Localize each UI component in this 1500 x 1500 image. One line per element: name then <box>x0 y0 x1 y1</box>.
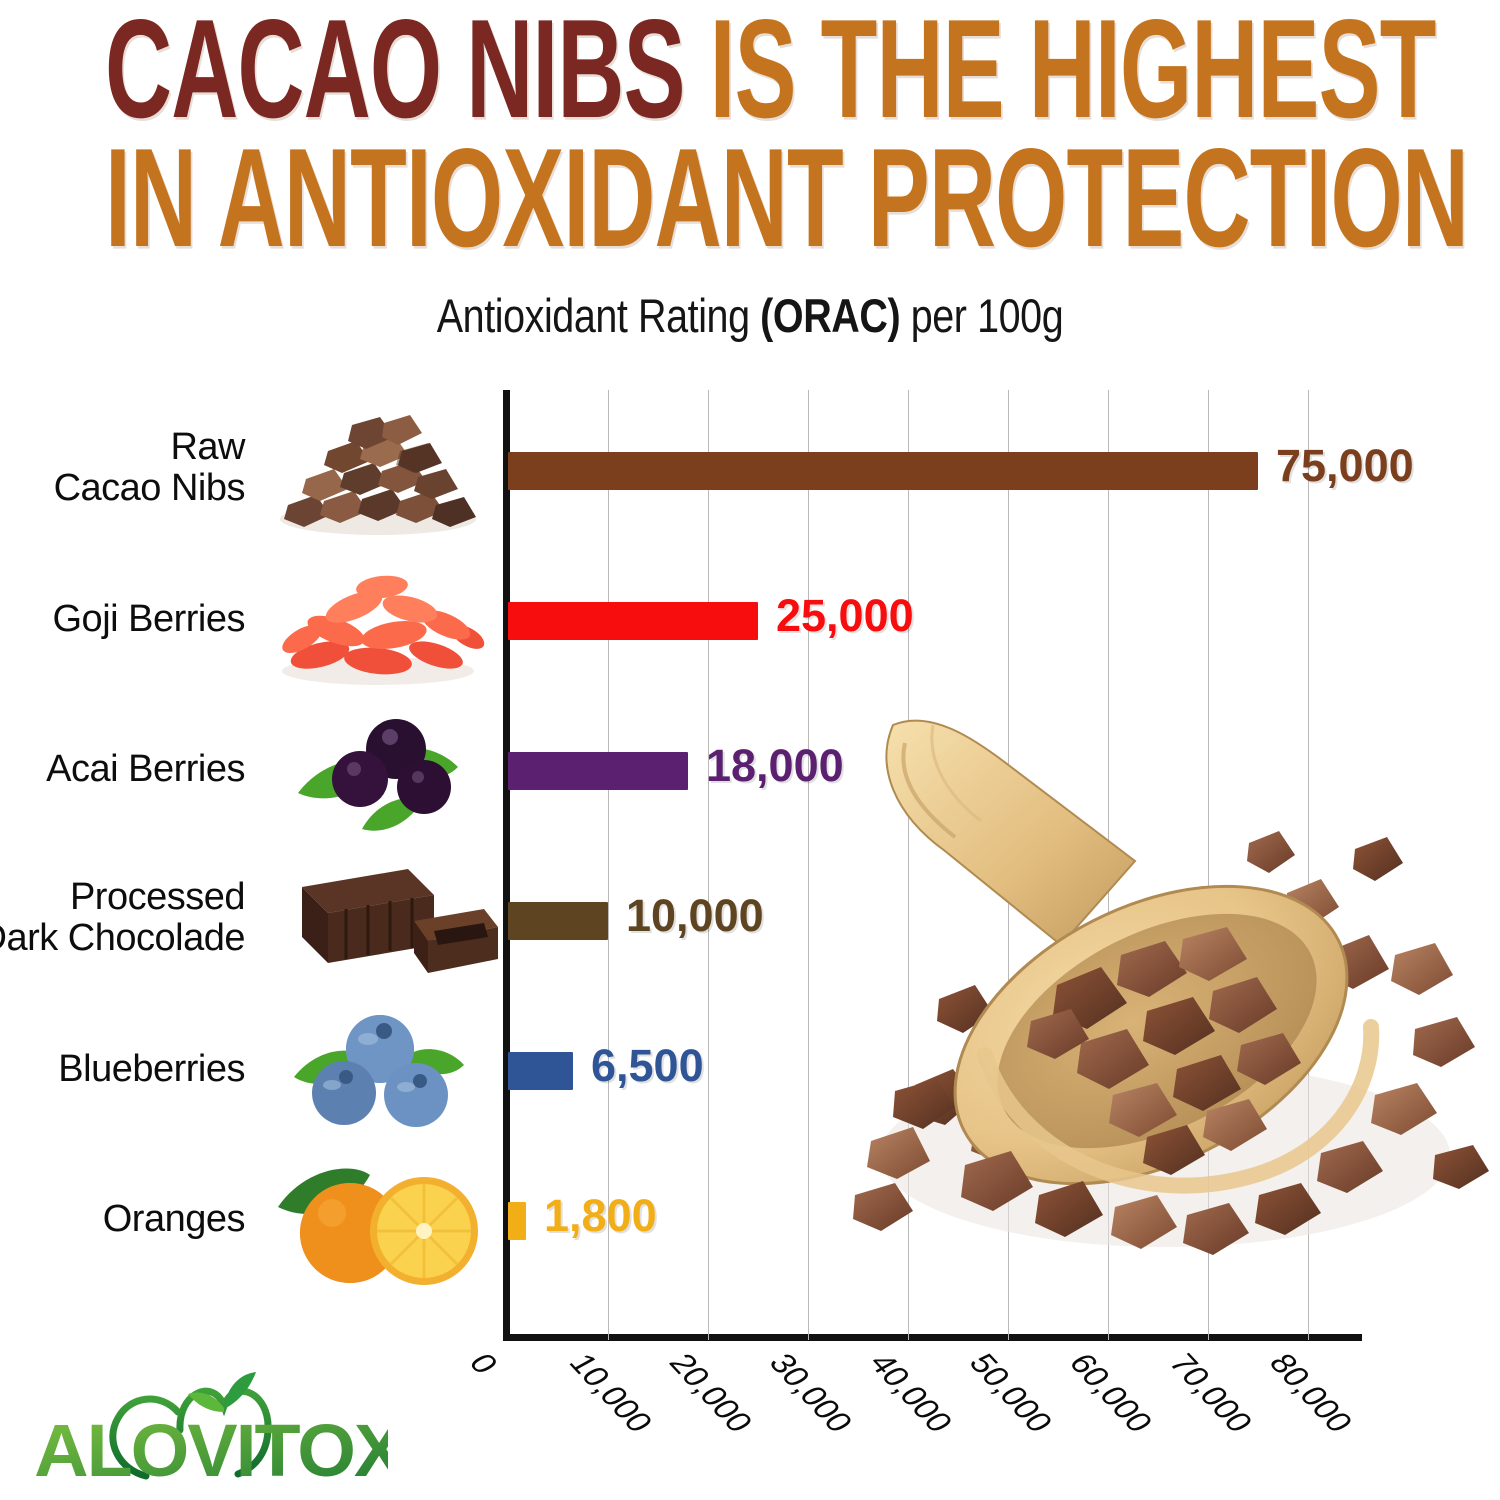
bar <box>508 602 758 640</box>
bar <box>508 752 688 790</box>
category-label: RawCacao Nibs <box>0 427 245 509</box>
goji-berries-image <box>258 551 498 691</box>
x-tick-label: 20,000 <box>661 1348 761 1438</box>
bar-value-label: 25,000 <box>776 590 914 642</box>
x-tick-label: 50,000 <box>961 1348 1061 1438</box>
category-label-line: Oranges <box>0 1199 245 1240</box>
category-label-line: Dark Chocolade <box>0 918 245 959</box>
x-tick-label: 60,000 <box>1061 1348 1161 1438</box>
category-label: Acai Berries <box>0 749 245 790</box>
bar-value-label: 1,800 <box>544 1190 657 1242</box>
bar <box>508 452 1258 490</box>
bar-value-label: 18,000 <box>706 740 844 792</box>
x-tick-label: 10,000 <box>561 1348 661 1438</box>
category-label-line: Blueberries <box>0 1049 245 1090</box>
category-label-line: Cacao Nibs <box>0 468 245 509</box>
blueberries-image <box>258 1001 498 1141</box>
category-label: ProcessedDark Chocolade <box>0 877 245 959</box>
x-tick-label: 40,000 <box>861 1348 961 1438</box>
category-label: Goji Berries <box>0 599 245 640</box>
bar-value-label: 6,500 <box>591 1040 704 1092</box>
x-tick-label: 70,000 <box>1161 1348 1261 1438</box>
acai-berries-image <box>258 701 498 841</box>
category-label: Oranges <box>0 1199 245 1240</box>
x-tick-label: 80,000 <box>1261 1348 1361 1438</box>
bar-value-label: 75,000 <box>1276 440 1414 492</box>
dark-chocolate-image <box>258 851 498 991</box>
bar <box>508 902 608 940</box>
bar <box>508 1052 573 1090</box>
oranges-image <box>258 1151 498 1291</box>
bar <box>508 1202 526 1240</box>
category-label: Blueberries <box>0 1049 245 1090</box>
infographic-page: CACAO NIBS IS THE HIGHEST IN ANTIOXIDANT… <box>0 0 1500 1500</box>
cacao-nibs-pile-image <box>258 401 498 541</box>
bar-row: RawCacao Nibs 75,000 <box>0 396 1500 546</box>
x-tick-label: 0 <box>461 1348 506 1380</box>
alovitox-logo: ALOVITOX <box>28 1372 388 1490</box>
category-label-line: Goji Berries <box>0 599 245 640</box>
svg-text:ALOVITOX: ALOVITOX <box>34 1409 388 1490</box>
cacao-nibs-wooden-scoop-photo <box>835 655 1495 1275</box>
x-tick-label: 30,000 <box>761 1348 861 1438</box>
category-label-line: Processed <box>0 877 245 918</box>
category-label-line: Raw <box>0 427 245 468</box>
bar-value-label: 10,000 <box>626 890 764 942</box>
category-label-line: Acai Berries <box>0 749 245 790</box>
